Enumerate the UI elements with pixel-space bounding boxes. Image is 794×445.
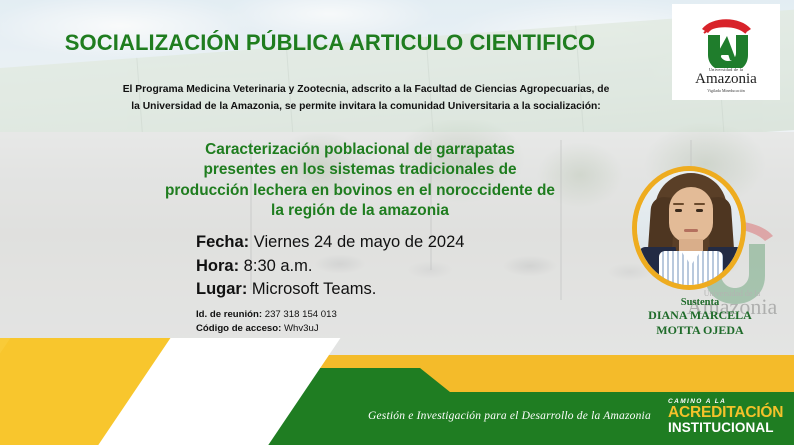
event-date-row: Fecha: Viernes 24 de mayo de 2024	[196, 231, 464, 255]
accreditation-line-3: INSTITUCIONAL	[668, 421, 788, 435]
meeting-code-row: Código de acceso: Whv3uJ	[196, 322, 337, 336]
logo-footnote: Vigilada Mineducación	[707, 88, 744, 93]
intro-line-1: El Programa Medicina Veterinaria y Zoote…	[86, 82, 646, 99]
logo-wordmark: Amazonia	[695, 72, 757, 87]
research-title-line-3: producción lechera en bovinos en el noro…	[100, 181, 620, 201]
event-time-label: Hora:	[196, 257, 239, 275]
poster-intro: El Programa Medicina Veterinaria y Zoote…	[86, 82, 646, 115]
meeting-id-row: Id. de reunión: 237 318 154 013	[196, 308, 337, 322]
intro-line-2: la Universidad de la Amazonia, se permit…	[86, 99, 646, 116]
footer-tagline: Gestión e Investigación para el Desarrol…	[368, 410, 651, 422]
meeting-credentials: Id. de reunión: 237 318 154 013 Código d…	[196, 308, 337, 337]
presenter-name-line-1: DIANA MARCELA	[612, 308, 788, 323]
poster-headline: SOCIALIZACIÓN PÚBLICA ARTICULO CIENTIFIC…	[0, 30, 660, 56]
accreditation-badge: CAMINO A LA ACREDITACIÓN INSTITUCIONAL	[668, 398, 788, 435]
meeting-id-label: Id. de reunión:	[196, 309, 262, 320]
event-place-row: Lugar: Microsoft Teams.	[196, 278, 464, 302]
event-time-row: Hora: 8:30 a.m.	[196, 255, 464, 279]
university-logo: Universidad de la Amazonia Vigilada Mine…	[672, 4, 780, 100]
meeting-id-value: 237 318 154 013	[262, 309, 337, 320]
presenter-role: Sustenta	[620, 297, 780, 308]
research-title-line-1: Caracterización poblacional de garrapata…	[100, 140, 620, 160]
ua-monogram-icon	[694, 12, 758, 68]
research-title-line-4: la región de la amazonia	[100, 201, 620, 221]
event-date-value: Viernes 24 de mayo de 2024	[249, 233, 464, 251]
research-title-line-2: presentes en los sistemas tradicionales …	[100, 160, 620, 180]
presenter-name-line-2: MOTTA OJEDA	[612, 323, 788, 338]
event-time-value: 8:30 a.m.	[239, 257, 312, 275]
event-place-label: Lugar:	[196, 280, 247, 298]
meeting-code-label: Código de acceso:	[196, 323, 281, 334]
presenter-photo	[632, 166, 746, 290]
meeting-code-value: Whv3uJ	[281, 323, 318, 334]
event-date-label: Fecha:	[196, 233, 249, 251]
accreditation-line-2: ACREDITACIÓN	[668, 405, 788, 421]
event-place-value: Microsoft Teams.	[247, 280, 376, 298]
presenter-name: DIANA MARCELA MOTTA OJEDA	[612, 308, 788, 337]
research-title: Caracterización poblacional de garrapata…	[100, 140, 620, 222]
event-details: Fecha: Viernes 24 de mayo de 2024 Hora: …	[196, 231, 464, 302]
event-poster: Universidad de la Amazonia Universidad d…	[0, 0, 794, 445]
